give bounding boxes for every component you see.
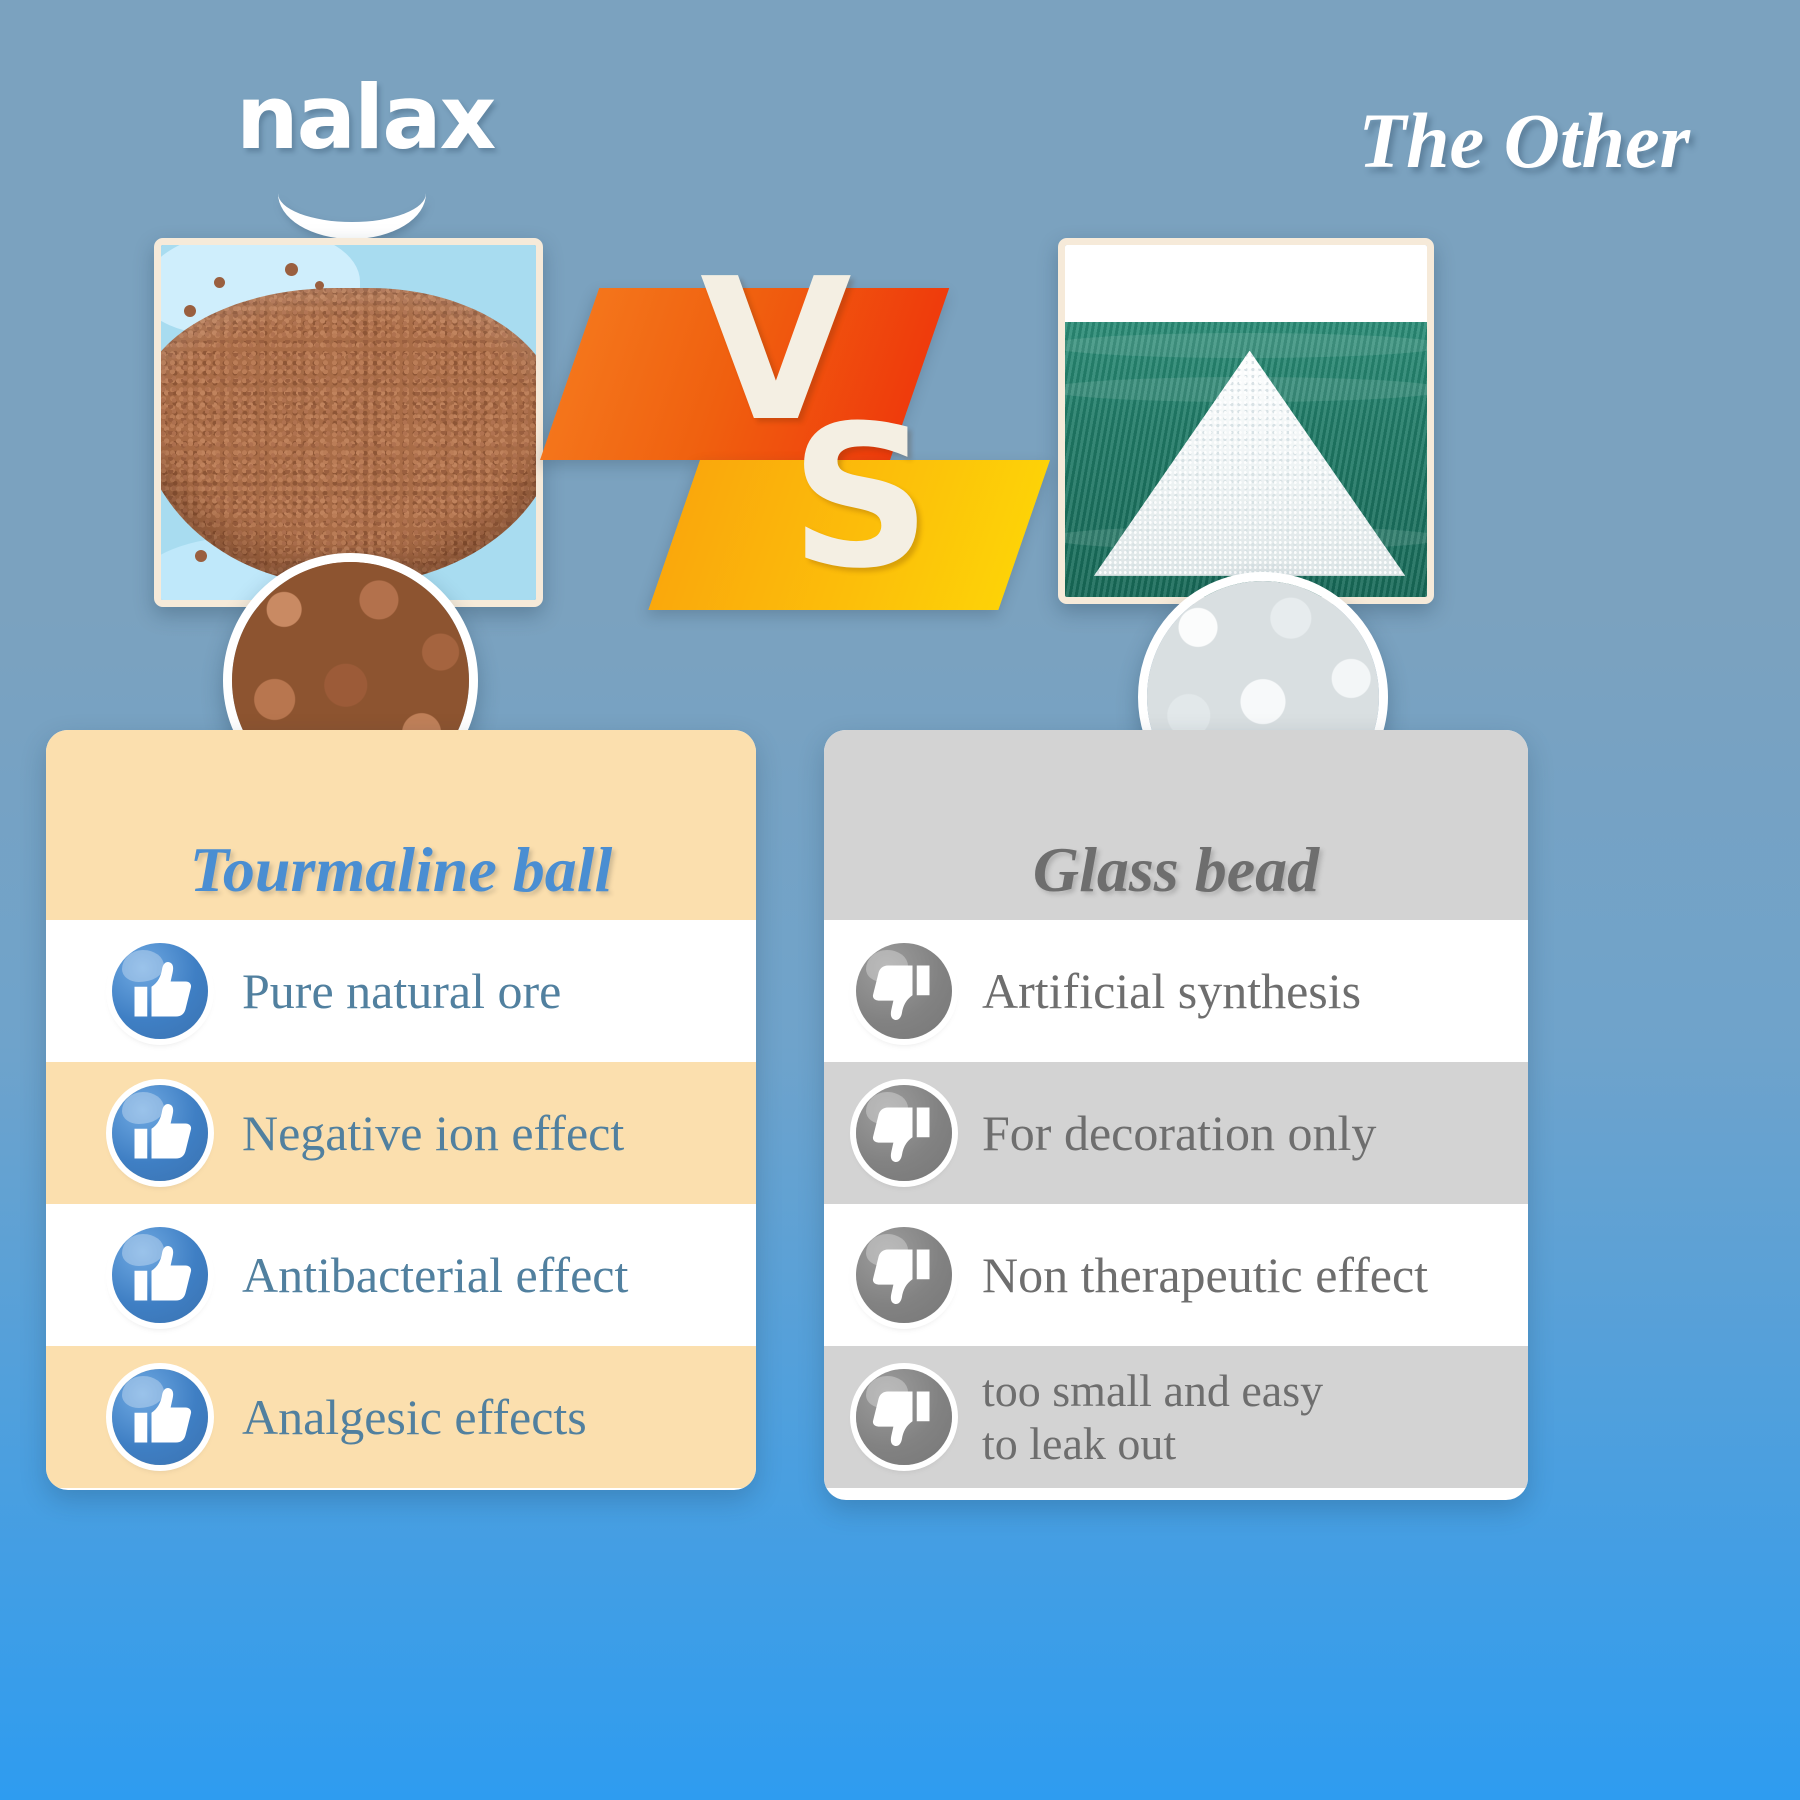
thumbs-down-icon: [856, 943, 952, 1039]
thumbs-up-icon: [112, 1085, 208, 1181]
infographic-canvas: nalax The Other V S: [0, 0, 1800, 1800]
glass-feature-list: Artificial synthesis For decoration only: [824, 920, 1528, 1488]
list-item-label: Analgesic effects: [242, 1388, 587, 1446]
thumbs-up-icon: [112, 1369, 208, 1465]
list-item-label: Negative ion effect: [242, 1104, 624, 1162]
tourmaline-comparison-card: Tourmaline ball Pure natural ore: [46, 730, 756, 1490]
list-item[interactable]: Artificial synthesis: [824, 920, 1528, 1062]
tourmaline-card-header: Tourmaline ball: [46, 730, 756, 920]
list-item-label: too small and easy to leak out: [982, 1364, 1323, 1471]
glass-photo-content: [1065, 245, 1427, 597]
list-item[interactable]: Antibacterial effect: [46, 1204, 756, 1346]
list-item-label: Non therapeutic effect: [982, 1246, 1428, 1304]
list-item-label: Antibacterial effect: [242, 1246, 628, 1304]
thumbs-up-icon: [112, 1227, 208, 1323]
stray-bead: [285, 263, 298, 276]
list-item-label: For decoration only: [982, 1104, 1376, 1162]
thumbs-up-icon: [112, 943, 208, 1039]
thumbs-down-icon: [856, 1369, 952, 1465]
tourmaline-card-title: Tourmaline ball: [190, 838, 613, 902]
list-item[interactable]: Analgesic effects: [46, 1346, 756, 1488]
brand-logo: nalax: [236, 74, 536, 194]
list-item[interactable]: Negative ion effect: [46, 1062, 756, 1204]
list-item-label: Pure natural ore: [242, 962, 561, 1020]
other-brand-title: The Other: [1359, 96, 1691, 186]
thumbs-down-icon: [856, 1227, 952, 1323]
stray-bead: [195, 550, 207, 562]
glass-card-header: Glass bead: [824, 730, 1528, 920]
towel-fold: [1058, 333, 1434, 358]
versus-letter-s: S: [790, 400, 931, 596]
tourmaline-beads-photo: [154, 238, 543, 607]
tourmaline-feature-list: Pure natural ore Negative ion effect: [46, 920, 756, 1488]
brand-logo-text: nalax: [236, 74, 536, 162]
list-item-label: Artificial synthesis: [982, 962, 1361, 1020]
list-item[interactable]: Non therapeutic effect: [824, 1204, 1528, 1346]
glass-comparison-card: Glass bead Artificial synthesis: [824, 730, 1528, 1500]
glass-card-title: Glass bead: [1033, 838, 1319, 902]
tourmaline-photo-content: [161, 245, 536, 600]
glass-beads-photo: [1058, 238, 1434, 604]
smile-curve-icon: [278, 152, 426, 239]
stray-bead: [315, 281, 324, 290]
list-item[interactable]: For decoration only: [824, 1062, 1528, 1204]
list-item[interactable]: too small and easy to leak out: [824, 1346, 1528, 1488]
photo-bead-pile: [154, 288, 543, 586]
stray-bead: [184, 305, 196, 317]
thumbs-down-icon: [856, 1085, 952, 1181]
stray-bead: [214, 277, 225, 288]
list-item[interactable]: Pure natural ore: [46, 920, 756, 1062]
